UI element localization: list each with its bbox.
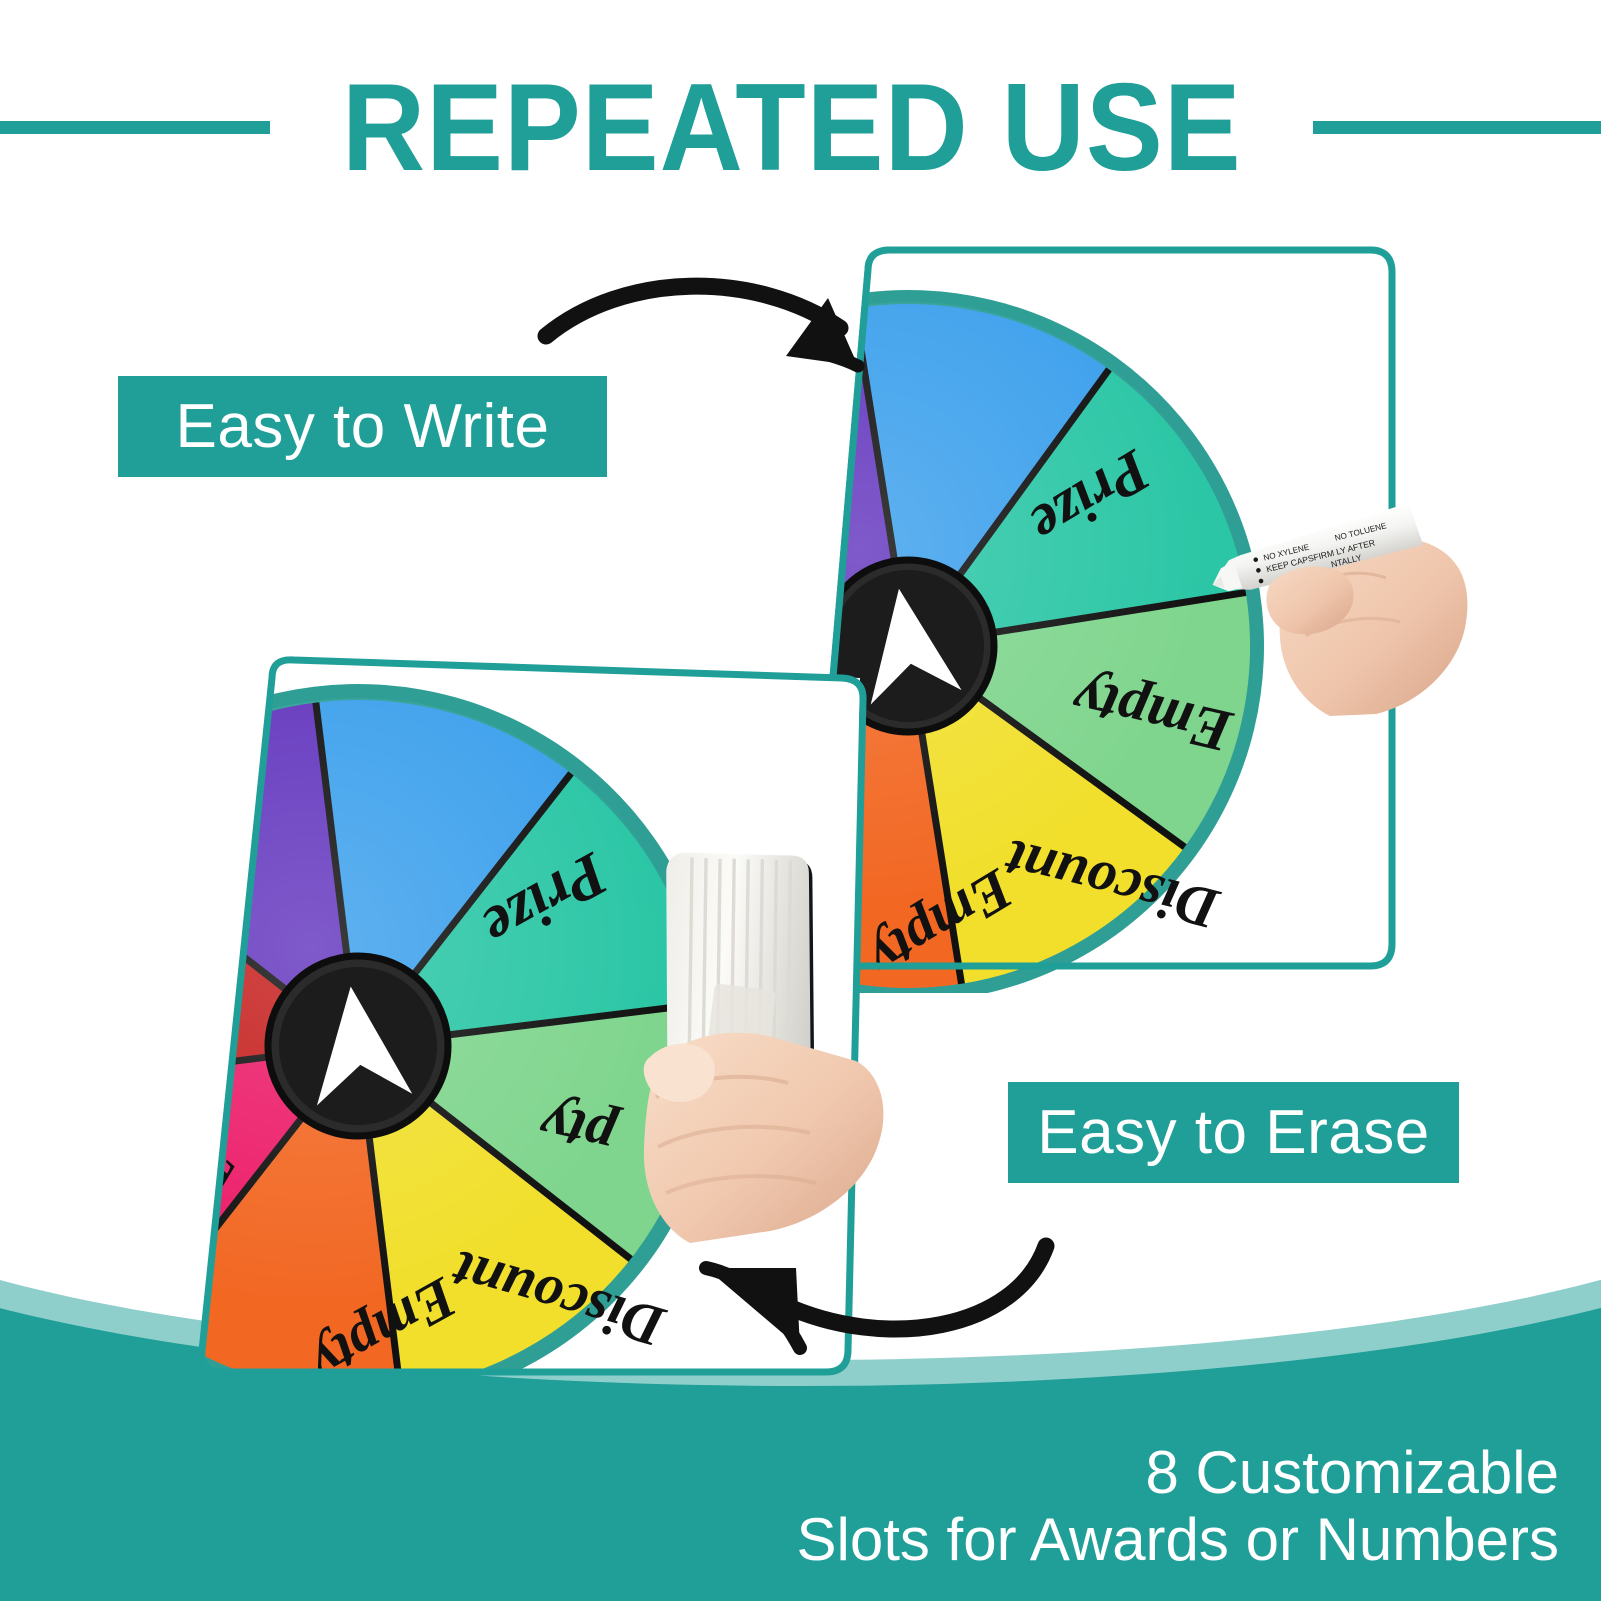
badge-easy-to-write-label: Easy to Write [175, 396, 549, 458]
badge-easy-to-erase-label: Easy to Erase [1037, 1102, 1429, 1164]
arrow-to-erase [678, 1212, 1068, 1382]
curved-arrow-icon-bottom [678, 1212, 1068, 1382]
eraser-and-hand [620, 845, 920, 1265]
wheel-bottom-label-purple: int [160, 847, 218, 920]
page-header: REPEATED USE [0, 55, 1601, 200]
marker-pen-and-hand: NO XYLENE NO TOLUENE KEEP CAPSFIRM LY AF… [1210, 488, 1470, 718]
infographic-canvas: REPEATED USE [0, 0, 1601, 1601]
page-title: REPEATED USE [342, 66, 1242, 190]
badge-easy-to-erase: Easy to Erase [1008, 1082, 1459, 1183]
marker-graphic: NO XYLENE NO TOLUENE KEEP CAPSFIRM LY AF… [1210, 488, 1470, 718]
title-rule-left [0, 121, 270, 134]
bottom-caption: 8 Customizable Slots for Awards or Numbe… [796, 1439, 1559, 1573]
eraser-graphic [620, 845, 920, 1265]
bottom-caption-line-1: 8 Customizable [796, 1439, 1559, 1506]
badge-easy-to-write: Easy to Write [118, 376, 607, 477]
bottom-caption-line-2: Slots for Awards or Numbers [796, 1506, 1559, 1573]
title-rule-right [1313, 121, 1601, 134]
